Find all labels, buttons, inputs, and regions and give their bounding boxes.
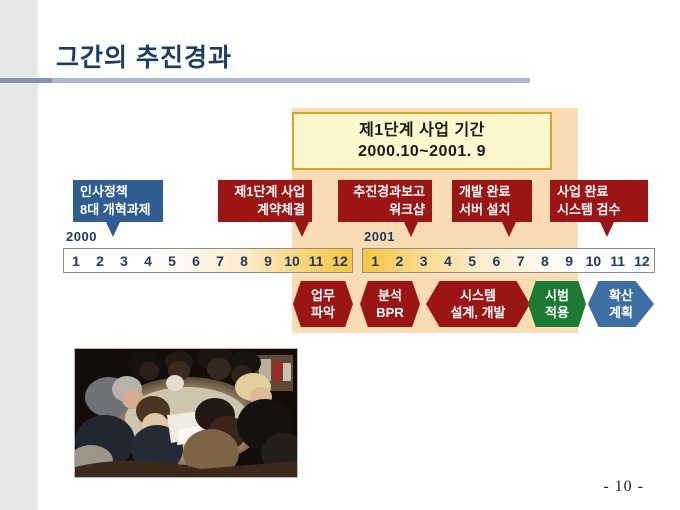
month-cell[interactable]: 10 <box>280 249 304 272</box>
phase-analysis-bpr-line2: BPR <box>376 304 403 321</box>
phase-analysis-bpr-line1: 분석 <box>378 287 402 304</box>
phase-understand-business[interactable]: 업무 파악 <box>293 281 353 327</box>
month-cell[interactable]: 8 <box>533 249 557 272</box>
month-cell[interactable]: 9 <box>557 249 581 272</box>
flag-project-done[interactable]: 사업 완료 시스템 검수 <box>550 180 648 222</box>
flag-hr-policy-pointer <box>106 222 120 237</box>
phase-pilot-apply[interactable]: 시범 적용 <box>528 281 586 327</box>
flag-project-done-line1: 사업 완료 <box>557 183 641 201</box>
flag-workshop-line2: 워크샵 <box>389 201 425 219</box>
phase-system-design-dev-line1: 시스템 <box>460 287 496 304</box>
month-cell[interactable]: 3 <box>412 249 436 272</box>
flag-dev-complete-line2: 서버 설치 <box>459 201 525 219</box>
month-cell[interactable]: 5 <box>460 249 484 272</box>
phase-rollout-plan[interactable]: 확산 계획 <box>588 281 654 327</box>
flag-contract-line2: 계약체결 <box>257 201 305 219</box>
phase-analysis-bpr[interactable]: 분석 BPR <box>360 281 420 327</box>
month-cell[interactable]: 9 <box>256 249 280 272</box>
team-meeting-photo <box>74 348 298 478</box>
phase-pilot-apply-line1: 시범 <box>545 287 569 304</box>
month-cell[interactable]: 7 <box>208 249 232 272</box>
flag-contract-pointer <box>295 222 309 237</box>
phase-rollout-plan-line1: 확산 <box>609 287 633 304</box>
callout-line-2: 2000.10~2001. 9 <box>358 141 486 162</box>
flag-workshop-pointer <box>404 222 418 237</box>
title-rule-left <box>0 78 52 83</box>
phase-system-design-dev[interactable]: 시스템 설계, 개발 <box>426 281 530 327</box>
month-cell[interactable]: 11 <box>304 249 328 272</box>
month-cell[interactable]: 6 <box>184 249 208 272</box>
month-cell[interactable]: 3 <box>112 249 136 272</box>
title-rule-main <box>52 78 530 83</box>
timeline-bar-2001[interactable]: 1 2 3 4 5 6 7 8 9 10 11 12 <box>362 248 655 273</box>
flag-hr-policy[interactable]: 인사정책 8대 개혁과제 <box>73 180 163 222</box>
month-cell[interactable]: 7 <box>509 249 533 272</box>
flag-workshop-line1: 추진경과보고 <box>353 183 425 201</box>
project-period-callout: 제1단계 사업 기간 2000.10~2001. 9 <box>292 112 552 170</box>
flag-contract[interactable]: 제1단계 사업 계약체결 <box>218 180 312 222</box>
month-cell[interactable]: 5 <box>160 249 184 272</box>
month-cell[interactable]: 4 <box>136 249 160 272</box>
month-cell[interactable]: 10 <box>581 249 605 272</box>
month-cell[interactable]: 11 <box>606 249 630 272</box>
year-label-2001: 2001 <box>364 229 395 244</box>
month-cell[interactable]: 1 <box>363 249 387 272</box>
phase-understand-business-line2: 파악 <box>311 304 335 321</box>
flag-contract-line1: 제1단계 사업 <box>234 183 305 201</box>
flag-dev-complete-line1: 개발 완료 <box>459 183 525 201</box>
month-cell[interactable]: 6 <box>484 249 508 272</box>
flag-hr-policy-line1: 인사정책 <box>80 183 156 201</box>
month-cell[interactable]: 4 <box>436 249 460 272</box>
phase-system-design-dev-line2: 설계, 개발 <box>450 304 505 321</box>
month-cell[interactable]: 2 <box>88 249 112 272</box>
timeline-bar-2000[interactable]: 1 2 3 4 5 6 7 8 9 10 11 12 <box>63 248 353 273</box>
left-decorative-band <box>0 0 38 510</box>
flag-project-done-pointer <box>600 222 614 237</box>
phase-understand-business-line1: 업무 <box>311 287 335 304</box>
month-cell[interactable]: 12 <box>328 249 352 272</box>
photo-artwork <box>75 349 297 477</box>
year-label-2000: 2000 <box>66 229 97 244</box>
flag-workshop[interactable]: 추진경과보고 워크샵 <box>338 180 432 222</box>
callout-line-1: 제1단계 사업 기간 <box>359 120 485 141</box>
page-number: - 10 - <box>603 478 644 496</box>
phase-rollout-plan-line2: 계획 <box>609 304 633 321</box>
phase-pilot-apply-line2: 적용 <box>545 304 569 321</box>
slide-canvas: 그간의 추진경과 제1단계 사업 기간 2000.10~2001. 9 인사정책… <box>0 0 680 510</box>
month-cell[interactable]: 2 <box>387 249 411 272</box>
month-cell[interactable]: 8 <box>232 249 256 272</box>
flag-hr-policy-line2: 8대 개혁과제 <box>80 201 156 219</box>
month-cell[interactable]: 12 <box>630 249 654 272</box>
flag-project-done-line2: 시스템 검수 <box>557 201 641 219</box>
page-title: 그간의 추진경과 <box>56 38 232 74</box>
flag-dev-complete[interactable]: 개발 완료 서버 설치 <box>452 180 532 222</box>
month-cell[interactable]: 1 <box>64 249 88 272</box>
flag-dev-complete-pointer <box>502 222 516 237</box>
